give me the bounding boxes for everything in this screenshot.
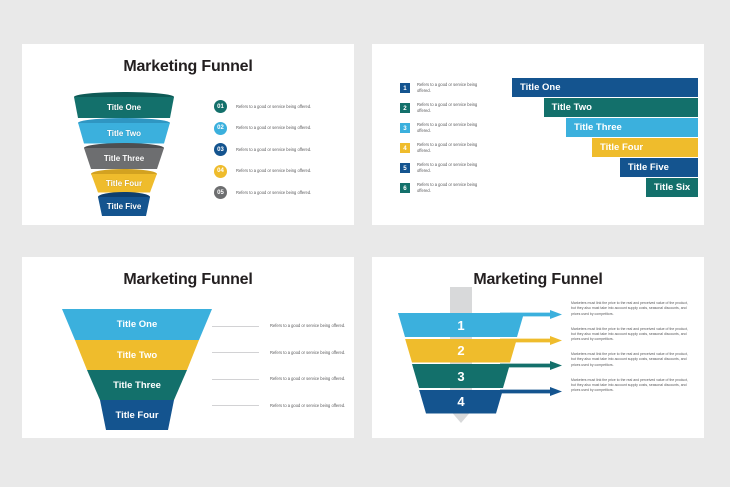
- stair-bar-label: Title Six: [654, 182, 690, 193]
- page-title: Marketing Funnel: [22, 271, 354, 289]
- callout-text: Refers to a good or service being offere…: [270, 403, 348, 409]
- legend-text: Refers to a good or service being offere…: [236, 168, 314, 174]
- list-item[interactable]: 3 Refers to a good or service being offe…: [400, 118, 520, 138]
- funnel-segment-body: Title Three: [54, 148, 194, 169]
- stair-bar-label: Title Four: [600, 142, 643, 153]
- stair-bar-1[interactable]: Title One: [512, 78, 698, 97]
- list-item[interactable]: Refers to a good or service being offere…: [212, 366, 352, 393]
- list-item[interactable]: 03 Refers to a good or service being off…: [214, 139, 342, 161]
- funnel-segment-label: Title One: [117, 319, 157, 330]
- list-item[interactable]: 2 Refers to a good or service being offe…: [400, 98, 520, 118]
- list-item[interactable]: Marketers must link the price to the rea…: [500, 301, 696, 327]
- slide-panel-funnel-flat[interactable]: Marketing Funnel Title OneTitle TwoTitle…: [22, 257, 354, 438]
- list-item[interactable]: 4 Refers to a good or service being offe…: [400, 138, 520, 158]
- list-item[interactable]: 01 Refers to a good or service being off…: [214, 96, 342, 118]
- funnel-segment-label: Title Three: [104, 154, 144, 163]
- right-arrow-icon: [500, 378, 562, 401]
- connector-line: [212, 326, 259, 327]
- callout-text: Marketers must link the price to the rea…: [571, 301, 691, 317]
- stair-bar-6[interactable]: Title Six: [646, 178, 698, 197]
- funnel-segment-body: Title One: [54, 97, 194, 118]
- badge-number-04: 04: [214, 165, 227, 178]
- funnel-segment-body: Title Two: [54, 123, 194, 144]
- badge-number-1: 1: [400, 83, 410, 93]
- badge-number-01: 01: [214, 100, 227, 113]
- list-item[interactable]: Refers to a good or service being offere…: [212, 340, 352, 367]
- stair-bar-label: Title Three: [574, 122, 622, 133]
- funnel-segment-body: Title Five: [54, 197, 194, 216]
- stair-bar-4[interactable]: Title Four: [592, 138, 698, 157]
- legend-list-circles: 01 Refers to a good or service being off…: [214, 96, 342, 204]
- funnel-segment-2[interactable]: Title Two: [62, 340, 212, 370]
- funnel-segment-label: Title Four: [106, 179, 142, 188]
- list-item[interactable]: 1 Refers to a good or service being offe…: [400, 78, 520, 98]
- badge-number-02: 02: [214, 122, 227, 135]
- funnel-segment-label: Title Two: [117, 350, 157, 361]
- list-item[interactable]: 04 Refers to a good or service being off…: [214, 161, 342, 183]
- list-item[interactable]: 02 Refers to a good or service being off…: [214, 118, 342, 140]
- badge-number-4: 4: [400, 143, 410, 153]
- list-item[interactable]: Marketers must link the price to the rea…: [500, 378, 696, 404]
- callout-text: Refers to a good or service being offere…: [270, 350, 348, 356]
- list-item[interactable]: 05 Refers to a good or service being off…: [214, 182, 342, 204]
- badge-number-5: 5: [400, 163, 410, 173]
- legend-text: Refers to a good or service being offere…: [417, 182, 487, 194]
- funnel-segment-label: Title One: [107, 103, 141, 112]
- funnel-segment-1[interactable]: Title One: [62, 309, 212, 340]
- connector-line: [212, 405, 259, 406]
- legend-text: Refers to a good or service being offere…: [236, 190, 314, 196]
- list-item[interactable]: 5 Refers to a good or service being offe…: [400, 158, 520, 178]
- legend-text: Refers to a good or service being offere…: [417, 82, 487, 94]
- funnel-band-number: 4: [457, 395, 464, 408]
- legend-text: Refers to a good or service being offere…: [417, 142, 487, 154]
- slide-panel-funnel-3d[interactable]: Marketing Funnel Title OneTitle TwoTitle…: [22, 44, 354, 225]
- page-title: Marketing Funnel: [22, 58, 354, 76]
- callout-text: Marketers must link the price to the rea…: [571, 327, 691, 343]
- legend-text: Refers to a good or service being offere…: [236, 147, 314, 153]
- legend-text: Refers to a good or service being offere…: [417, 162, 487, 174]
- funnel-segment-label: Title Three: [113, 380, 161, 391]
- stair-bar-3[interactable]: Title Three: [566, 118, 698, 137]
- funnel-segment-label: Title Four: [115, 410, 158, 421]
- funnel-band-number: 2: [457, 344, 464, 357]
- list-item[interactable]: 6 Refers to a good or service being offe…: [400, 178, 520, 198]
- funnel-segment-4[interactable]: Title Four: [54, 169, 194, 193]
- connector-line: [212, 352, 259, 353]
- funnel-segment-3[interactable]: Title Three: [54, 143, 194, 169]
- slide-gallery: Marketing Funnel Title OneTitle TwoTitle…: [0, 0, 730, 487]
- badge-number-03: 03: [214, 143, 227, 156]
- slide-panel-funnel-arrow[interactable]: Marketing Funnel 1234 Marketers must lin…: [372, 257, 704, 438]
- funnel-segment-5[interactable]: Title Five: [54, 192, 194, 216]
- badge-number-6: 6: [400, 183, 410, 193]
- list-item[interactable]: Refers to a good or service being offere…: [212, 393, 352, 420]
- callout-list: Refers to a good or service being offere…: [212, 313, 352, 419]
- funnel-segment-body: Title Four: [54, 174, 194, 193]
- list-item[interactable]: Marketers must link the price to the rea…: [500, 327, 696, 353]
- funnel-chart-3d: Title OneTitle TwoTitle ThreeTitle FourT…: [54, 92, 194, 218]
- stair-bar-label: Title Two: [552, 102, 592, 113]
- callout-text: Refers to a good or service being offere…: [270, 323, 348, 329]
- funnel-segment-2[interactable]: Title Two: [54, 118, 194, 144]
- stair-bar-5[interactable]: Title Five: [620, 158, 698, 177]
- slide-panel-staircase[interactable]: 1 Refers to a good or service being offe…: [372, 44, 704, 225]
- funnel-chart-flat: Title OneTitle TwoTitle ThreeTitle Four: [62, 309, 212, 427]
- list-item[interactable]: Refers to a good or service being offere…: [212, 313, 352, 340]
- funnel-band-number: 1: [457, 319, 464, 332]
- stair-bar-label: Title Five: [628, 162, 669, 173]
- funnel-band-number: 3: [457, 370, 464, 383]
- arrow-callout-list: Marketers must link the price to the rea…: [500, 301, 696, 403]
- callout-text: Marketers must link the price to the rea…: [571, 352, 691, 368]
- badge-number-05: 05: [214, 186, 227, 199]
- legend-text: Refers to a good or service being offere…: [236, 125, 314, 131]
- legend-list-squares: 1 Refers to a good or service being offe…: [400, 78, 520, 198]
- funnel-segment-3[interactable]: Title Three: [62, 370, 212, 400]
- legend-text: Refers to a good or service being offere…: [417, 122, 487, 134]
- funnel-segment-label: Title Five: [107, 202, 142, 211]
- stair-bar-2[interactable]: Title Two: [544, 98, 698, 117]
- staircase-bar-chart: Title One Title Two Title Three Title Fo…: [512, 78, 698, 198]
- list-item[interactable]: Marketers must link the price to the rea…: [500, 352, 696, 378]
- funnel-band-1[interactable]: 1: [388, 313, 534, 337]
- connector-line: [212, 379, 259, 380]
- legend-text: Refers to a good or service being offere…: [236, 104, 314, 110]
- callout-text: Marketers must link the price to the rea…: [571, 378, 691, 394]
- funnel-segment-4[interactable]: Title Four: [62, 400, 212, 430]
- badge-number-3: 3: [400, 123, 410, 133]
- funnel-segment-1[interactable]: Title One: [54, 92, 194, 118]
- funnel-segment-label: Title Two: [107, 129, 141, 138]
- callout-text: Refers to a good or service being offere…: [270, 376, 348, 382]
- stair-bar-label: Title One: [520, 82, 560, 93]
- legend-text: Refers to a good or service being offere…: [417, 102, 487, 114]
- badge-number-2: 2: [400, 103, 410, 113]
